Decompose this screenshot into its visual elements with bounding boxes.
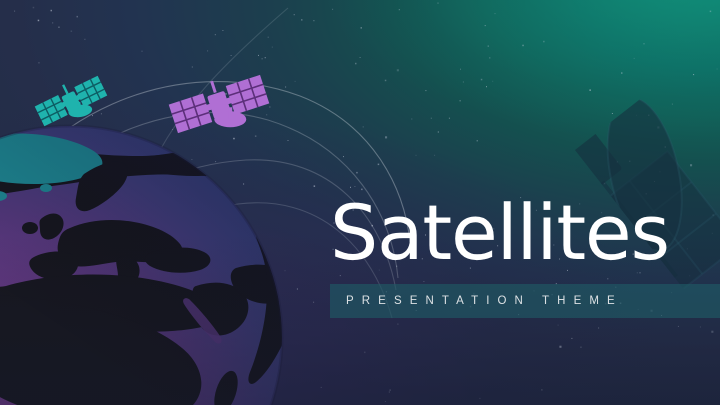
satellite-violet-antenna [210,81,217,93]
satellite-violet-panel-left [169,93,213,133]
satellite-violet-panel-right [226,75,270,115]
globe-landmasses [0,120,301,405]
satellite-violet [160,58,278,150]
presentation-slide: Satellites PRESENTATION THEME [0,0,720,405]
globe-terminator-shading [0,120,300,405]
subtitle-label: PRESENTATION THEME [346,284,623,318]
satellite-teal-antenna [62,84,69,94]
title-block: Satellites [330,196,720,270]
satellite-teal [28,66,114,136]
page-title: Satellites [330,196,720,270]
